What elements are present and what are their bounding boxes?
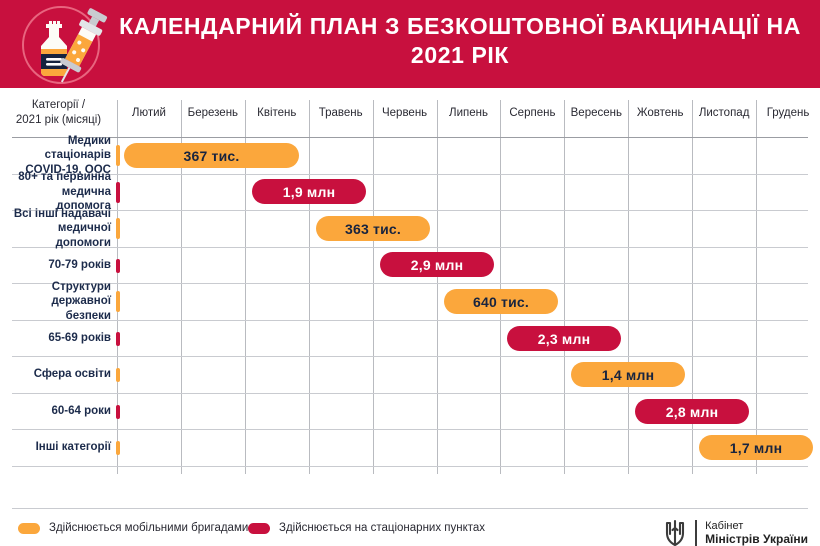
column-header-month: Квітень <box>245 88 309 137</box>
grid-vline <box>309 100 310 474</box>
row-label-4: 70-79 років <box>4 247 111 284</box>
cmu-line2: Міністрів України <box>705 532 808 546</box>
row-label-3: Всі інші надавачімедичної допомоги <box>4 210 111 247</box>
row-label-2: 80+ та первиннамедична допомога <box>4 174 111 211</box>
bar-value-label: 1,7 млн <box>730 440 782 456</box>
legend-swatch-station-icon <box>248 523 270 534</box>
row-type-marker-mobile <box>116 218 120 239</box>
legend: Здійснюється мобільними бригадами Здійсн… <box>0 508 820 546</box>
row-label-line1: Структури <box>52 280 111 295</box>
bar-value-label: 367 тис. <box>184 148 240 164</box>
row-label-6: 65-69 років <box>4 320 111 357</box>
row-type-marker-station <box>116 332 120 346</box>
corner-header-line1: Категорії / <box>32 98 85 113</box>
grid-hline <box>12 466 808 467</box>
logo-artwork <box>12 4 108 86</box>
row-type-marker-station <box>116 259 120 273</box>
bar-station: 2,9 млн <box>380 252 494 277</box>
bar-mobile: 1,7 млн <box>699 435 813 460</box>
vaccine-bottle-syringe-icon <box>12 4 108 86</box>
corner-header-line2: 2021 рік (місяці) <box>16 113 101 128</box>
row-type-marker-station <box>116 405 120 419</box>
bar-value-label: 2,9 млн <box>411 257 463 273</box>
row-type-marker-mobile <box>116 368 120 382</box>
grid-vline <box>500 100 501 474</box>
ukraine-trident-icon <box>663 519 687 546</box>
grid-vline <box>373 100 374 474</box>
legend-swatch-mobile-icon <box>18 523 40 534</box>
bar-value-label: 2,3 млн <box>538 331 590 347</box>
column-header-month: Липень <box>437 88 501 137</box>
infographic-root: КАЛЕНДАРНИЙ ПЛАН З БЕЗКОШТОВНОЇ ВАКЦИНАЦ… <box>0 0 820 546</box>
grid-vline <box>437 100 438 474</box>
cmu-logo: Кабінет Міністрів України <box>663 519 808 546</box>
bar-value-label: 1,9 млн <box>283 184 335 200</box>
bar-station: 2,3 млн <box>507 326 621 351</box>
grid-vline <box>564 100 565 474</box>
grid-hline <box>12 137 808 138</box>
row-label-5: Структуридержавної безпеки <box>4 283 111 320</box>
bar-mobile: 363 тис. <box>316 216 430 241</box>
bar-station: 2,8 млн <box>635 399 749 424</box>
vaccination-schedule-table: Категорії / 2021 рік (місяці) ЛютийБерез… <box>0 88 820 508</box>
legend-separator <box>12 508 808 509</box>
grid-hline <box>12 393 808 394</box>
column-header-month: Вересень <box>564 88 628 137</box>
grid-hline <box>12 356 808 357</box>
row-type-marker-mobile <box>116 291 120 312</box>
legend-item-mobile: Здійснюється мобільними бригадами <box>18 522 248 534</box>
column-header-month: Листопад <box>692 88 756 137</box>
row-label-line1: Інші категорії <box>36 440 111 455</box>
row-label-line1: Всі інші надавачі <box>14 207 111 222</box>
row-label-line1: Сфера освіти <box>34 367 111 382</box>
row-label-8: 60-64 роки <box>4 393 111 430</box>
column-header-month: Серпень <box>500 88 564 137</box>
row-label-line1: 80+ та первинна <box>18 170 111 185</box>
bar-value-label: 2,8 млн <box>666 404 718 420</box>
bar-mobile: 367 тис. <box>124 143 299 168</box>
column-header-month: Грудень <box>756 88 820 137</box>
legend-label-mobile: Здійснюється мобільними бригадами <box>49 522 248 534</box>
row-label-9: Інші категорії <box>4 429 111 466</box>
corner-header: Категорії / 2021 рік (місяці) <box>0 88 117 137</box>
column-header-month: Жовтень <box>628 88 692 137</box>
column-header-month: Червень <box>373 88 437 137</box>
row-type-marker-mobile <box>116 441 120 455</box>
bar-station: 1,9 млн <box>252 179 366 204</box>
row-label-7: Сфера освіти <box>4 356 111 393</box>
legend-label-station: Здійснюється на стаціонарних пунктах <box>279 522 485 534</box>
row-type-marker-mobile <box>116 145 120 166</box>
grid-hline <box>12 174 808 175</box>
cmu-text: Кабінет Міністрів України <box>705 520 808 546</box>
grid-hline <box>12 283 808 284</box>
column-header-month: Лютий <box>117 88 181 137</box>
bar-mobile: 640 тис. <box>444 289 558 314</box>
row-label-line1: 60-64 роки <box>52 404 111 419</box>
page-title: КАЛЕНДАРНИЙ ПЛАН З БЕЗКОШТОВНОЇ ВАКЦИНАЦ… <box>110 12 810 70</box>
column-header-month: Березень <box>181 88 245 137</box>
row-label-line1: 70-79 років <box>48 258 111 273</box>
grid-vline <box>756 100 757 474</box>
row-label-1: Медики стаціонарівCOVID-19, ООС <box>4 137 111 174</box>
row-label-line1: 65-69 років <box>48 331 111 346</box>
grid-hline <box>12 247 808 248</box>
column-header-month: Травень <box>309 88 373 137</box>
grid-hline <box>12 210 808 211</box>
grid-vline <box>628 100 629 474</box>
row-type-marker-station <box>116 182 120 203</box>
cmu-divider <box>695 520 697 546</box>
bar-value-label: 640 тис. <box>473 294 529 310</box>
row-label-line1: Медики стаціонарів <box>4 134 111 163</box>
grid-hline <box>12 429 808 430</box>
legend-item-station: Здійснюється на стаціонарних пунктах <box>248 522 485 534</box>
grid-hline <box>12 320 808 321</box>
bar-value-label: 1,4 млн <box>602 367 654 383</box>
bar-mobile: 1,4 млн <box>571 362 685 387</box>
bar-value-label: 363 тис. <box>345 221 401 237</box>
